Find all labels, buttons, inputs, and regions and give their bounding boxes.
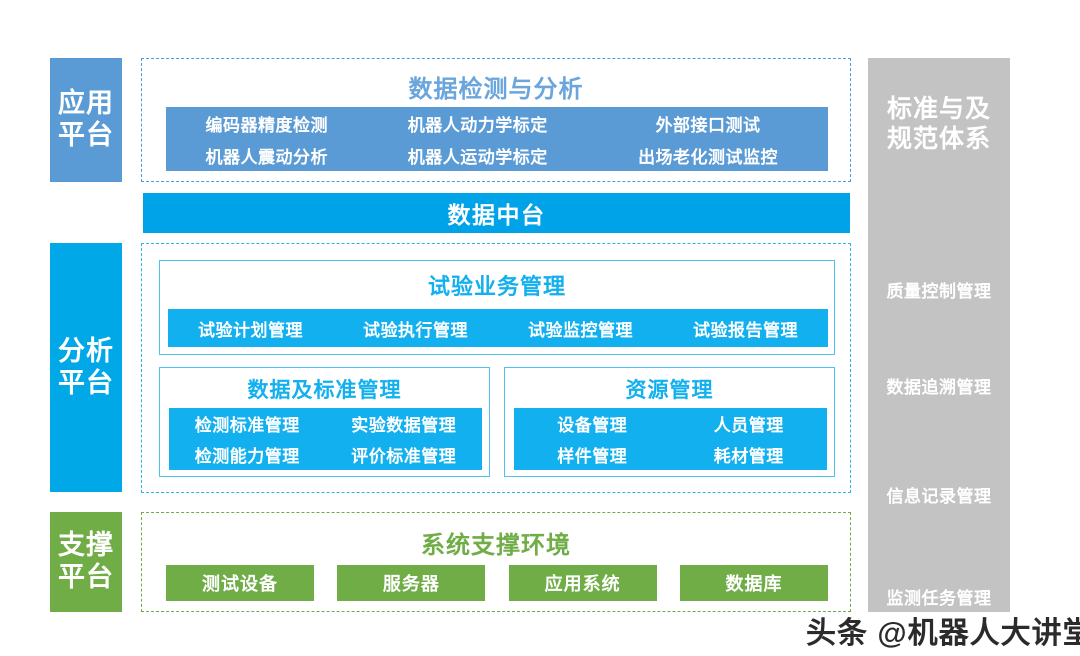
platform-label-support: 支撑 平台: [50, 512, 122, 612]
resource-item-strip: 设备管理 人员管理 样件管理 耗材管理: [514, 408, 827, 470]
test-business-item-strip: 试验计划管理 试验执行管理 试验监控管理 试验报告管理: [168, 309, 828, 347]
panel-data-and-standard-management: 数据及标准管理 检测标准管理 实验数据管理 检测能力管理 评价标准管理: [159, 367, 490, 477]
resource-item-personnel[interactable]: 人员管理: [671, 411, 828, 436]
data-standard-management-title: 数据及标准管理: [160, 374, 489, 404]
section-support-platform: 系统支撑环境 测试设备 服务器 应用系统 数据库: [141, 512, 851, 612]
app-item-robot-vibration-analysis[interactable]: 机器人震动分析: [166, 143, 367, 168]
app-item-aging-test-monitoring[interactable]: 出场老化测试监控: [588, 143, 828, 168]
support-item-application-system[interactable]: 应用系统: [509, 565, 657, 601]
standards-item-monitoring-task[interactable]: 监测任务管理: [868, 584, 1010, 609]
data-standard-item-strip: 检测标准管理 实验数据管理 检测能力管理 评价标准管理: [169, 408, 482, 470]
panel-resource-management: 资源管理 设备管理 人员管理 样件管理 耗材管理: [504, 367, 835, 477]
resource-item-equipment[interactable]: 设备管理: [514, 411, 671, 436]
business-item-test-execution[interactable]: 试验执行管理: [333, 316, 498, 341]
panel-test-business-management: 试验业务管理 试验计划管理 试验执行管理 试验监控管理 试验报告管理: [159, 260, 835, 355]
standard-item-detection-standard[interactable]: 检测标准管理: [169, 411, 326, 436]
platform-label-application-line1: 应用: [58, 88, 114, 120]
platform-label-application-line2: 平台: [58, 120, 114, 152]
business-item-test-report[interactable]: 试验报告管理: [663, 316, 828, 341]
platform-label-analysis-line2: 平台: [58, 368, 114, 400]
app-item-robot-kinematics-calibration[interactable]: 机器人运动学标定: [367, 143, 588, 168]
app-item-encoder-accuracy[interactable]: 编码器精度检测: [166, 111, 367, 136]
app-item-external-interface-test[interactable]: 外部接口测试: [588, 111, 828, 136]
standards-column-title: 标准与及 规范体系: [868, 94, 1010, 154]
platform-label-analysis: 分析 平台: [50, 243, 122, 492]
app-item-robot-dynamics-calibration[interactable]: 机器人动力学标定: [367, 111, 588, 136]
support-platform-item-row: 测试设备 服务器 应用系统 数据库: [166, 565, 828, 601]
support-platform-title: 系统支撑环境: [142, 525, 850, 560]
platform-label-support-line2: 平台: [58, 562, 114, 594]
application-platform-title: 数据检测与分析: [142, 69, 850, 104]
business-item-test-monitoring[interactable]: 试验监控管理: [498, 316, 663, 341]
standards-item-information-record[interactable]: 信息记录管理: [868, 482, 1010, 507]
standard-item-evaluation-standard[interactable]: 评价标准管理: [326, 442, 483, 467]
data-midplatform-bar[interactable]: 数据中台: [143, 193, 850, 233]
business-item-test-plan[interactable]: 试验计划管理: [168, 316, 333, 341]
standards-item-data-traceability[interactable]: 数据追溯管理: [868, 373, 1010, 398]
section-application-platform: 数据检测与分析 编码器精度检测 机器人动力学标定 外部接口测试 机器人震动分析 …: [141, 58, 851, 182]
platform-label-support-line1: 支撑: [58, 530, 114, 562]
standards-and-norms-column: 标准与及 规范体系 质量控制管理 数据追溯管理 信息记录管理 监测任务管理: [868, 58, 1010, 612]
standard-item-experiment-data[interactable]: 实验数据管理: [326, 411, 483, 436]
application-platform-item-grid: 编码器精度检测 机器人动力学标定 外部接口测试 机器人震动分析 机器人运动学标定…: [166, 107, 828, 171]
standard-item-detection-capability[interactable]: 检测能力管理: [169, 442, 326, 467]
resource-management-title: 资源管理: [505, 374, 834, 404]
support-item-server[interactable]: 服务器: [337, 565, 485, 601]
standards-column-title-line2: 规范体系: [868, 124, 1010, 154]
standards-item-quality-control[interactable]: 质量控制管理: [868, 277, 1010, 302]
watermark-text: 头条 @机器人大讲堂: [806, 608, 1080, 652]
section-analysis-platform: 试验业务管理 试验计划管理 试验执行管理 试验监控管理 试验报告管理 数据及标准…: [141, 243, 851, 493]
resource-item-sample[interactable]: 样件管理: [514, 442, 671, 467]
platform-label-application: 应用 平台: [50, 58, 122, 182]
resource-item-consumable[interactable]: 耗材管理: [671, 442, 828, 467]
support-item-test-equipment[interactable]: 测试设备: [166, 565, 314, 601]
architecture-diagram: 应用 平台 分析 平台 支撑 平台 数据检测与分析 编码器精度检测 机器人动力学…: [0, 0, 1080, 656]
support-item-database[interactable]: 数据库: [680, 565, 828, 601]
platform-label-analysis-line1: 分析: [58, 336, 114, 368]
standards-column-title-line1: 标准与及: [868, 94, 1010, 124]
test-business-management-title: 试验业务管理: [160, 269, 834, 301]
